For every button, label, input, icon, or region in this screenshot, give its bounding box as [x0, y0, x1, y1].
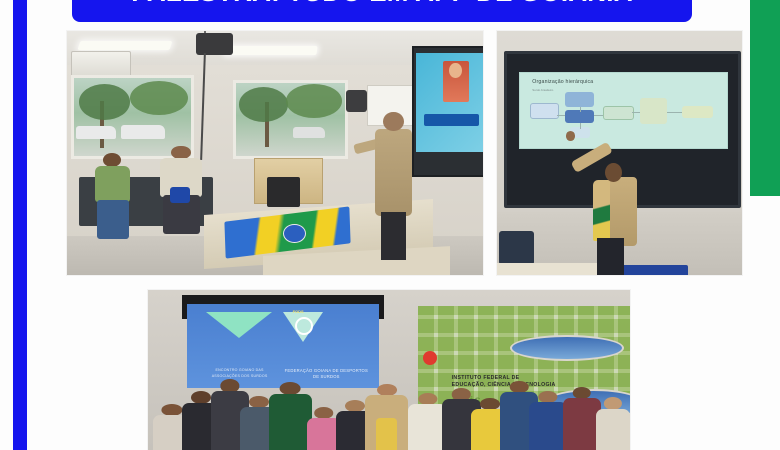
slide-subtitle: Surdo brasileiro: [532, 88, 553, 92]
tree-foliage: [79, 84, 130, 120]
legs: [97, 200, 129, 239]
poster-canvas: PALESTRA! TUDO EM APP DE GOIÂNIA: [0, 0, 780, 450]
chair: [499, 231, 533, 265]
poster-title: PALESTRA! TUDO EM APP DE GOIÂNIA: [131, 0, 632, 5]
held-item: [170, 187, 189, 203]
diagram-node: [682, 106, 713, 118]
tree-foliage: [286, 84, 342, 118]
parked-car: [76, 126, 116, 138]
seated-participant: [159, 146, 205, 261]
person: [269, 382, 312, 450]
projected-slide: [416, 53, 483, 152]
presenter-jacket: [610, 177, 637, 245]
person: [408, 393, 447, 450]
right-accent-block: [750, 0, 780, 196]
presenter-head: [383, 112, 404, 132]
torso: [408, 404, 447, 450]
tree-foliage: [239, 87, 289, 122]
connector: [667, 112, 682, 113]
head: [418, 393, 437, 405]
connector: [594, 115, 602, 116]
connector: [632, 112, 640, 113]
ifg-logo-dot: [423, 351, 437, 365]
head: [604, 397, 622, 410]
seated-participant: [92, 153, 134, 260]
connector: [580, 123, 581, 129]
torso: [95, 166, 130, 203]
projector: [196, 33, 233, 55]
presenter-legs: [381, 212, 406, 261]
torso: [529, 402, 568, 450]
slide-portrait-head: [449, 63, 462, 79]
person: [365, 384, 408, 450]
photo-classroom-content: [67, 31, 483, 275]
tree-foliage: [130, 81, 188, 115]
left-accent-bar: [13, 0, 27, 450]
blue-cloth: [615, 265, 689, 275]
diagram-node: [565, 92, 594, 107]
head: [103, 153, 121, 167]
table: [497, 263, 610, 275]
person: [596, 397, 630, 450]
photo-presenter-content: Organização hierárquica Surdo brasileiro: [497, 31, 742, 275]
title-banner: PALESTRA! TUDO EM APP DE GOIÂNIA: [72, 0, 692, 22]
wall-speaker: [346, 90, 367, 112]
projection-screen: [412, 46, 483, 177]
photo-group: FGDS ENCONTRO GOIANO DAS ASSOCIAÇÕES DOS…: [148, 290, 630, 450]
fgds-logo-label: FGDS: [293, 309, 304, 314]
presenter-torso: [375, 129, 412, 217]
photo-classroom-lecture: [67, 31, 483, 275]
pointing-hand: [566, 131, 576, 141]
person: [529, 391, 568, 450]
group-of-people: [148, 376, 630, 450]
flag-emblem: [283, 224, 306, 243]
photo-presenter-hierarchy: Organização hierárquica Surdo brasileiro: [497, 31, 742, 275]
parked-car: [121, 125, 165, 139]
diagram-node: [565, 110, 594, 122]
ceiling-light: [78, 41, 172, 50]
diagram-node: [640, 98, 667, 124]
photo-group-content: FGDS ENCONTRO GOIANO DAS ASSOCIAÇÕES DOS…: [148, 290, 630, 450]
slide-title: Organização hierárquica: [532, 79, 593, 85]
shirt: [376, 418, 398, 450]
slide-caption-bar: [424, 114, 479, 126]
connector: [580, 107, 581, 112]
ceiling-light: [224, 46, 317, 55]
diagram-node: [530, 103, 559, 119]
parked-car: [293, 127, 325, 138]
presenter-head: [605, 163, 622, 183]
torso: [596, 409, 630, 450]
window: [233, 80, 347, 159]
monitor: [267, 177, 300, 206]
connector: [557, 115, 565, 116]
diagram-node: [603, 106, 634, 120]
wall-oval-graphic: [510, 335, 625, 361]
torso: [269, 394, 312, 450]
slide-chevron-shape: [206, 312, 272, 338]
projected-slide: Organização hierárquica Surdo brasileiro: [519, 72, 728, 150]
presenter-legs: [597, 238, 624, 275]
